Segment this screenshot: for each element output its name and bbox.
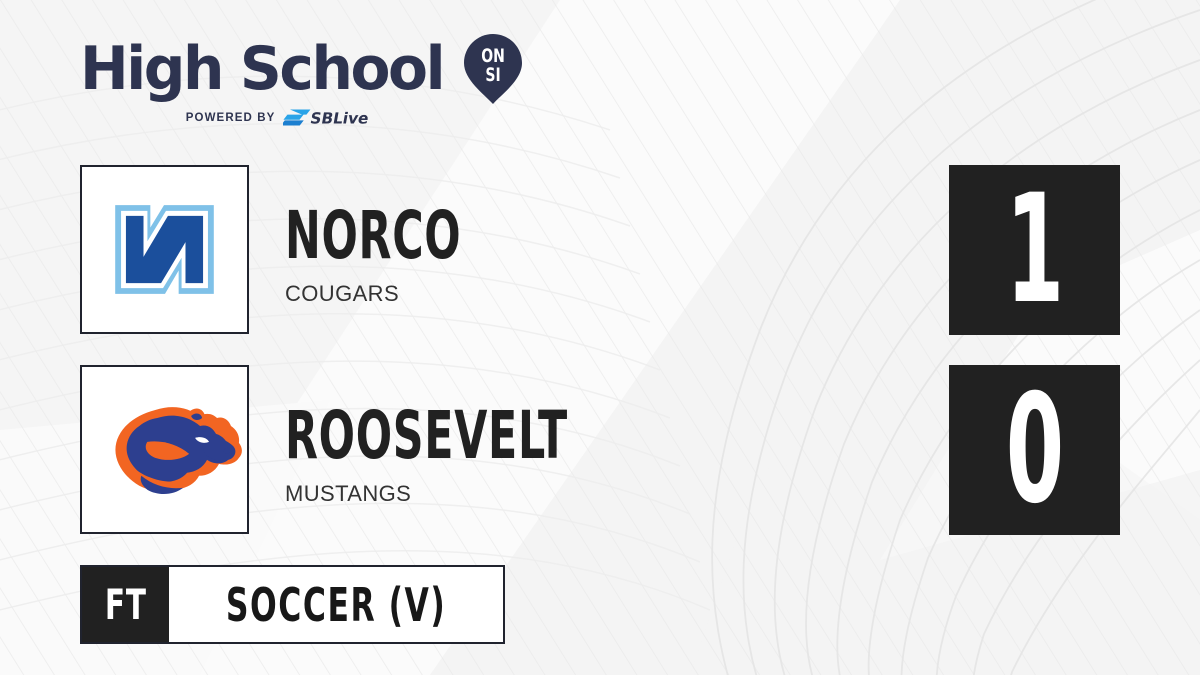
game-status-bar: FT SOCCER (V) — [80, 565, 505, 644]
norco-block-n-logo — [82, 167, 247, 332]
brand-title-row: High School ON SI — [80, 36, 510, 102]
powered-by-label: POWERED BY — [186, 112, 276, 124]
sblive-chevron-icon — [283, 109, 310, 125]
team-text-block: NORCO COUGARS — [285, 165, 985, 305]
team-score: 1 — [1005, 175, 1063, 325]
team-name: NORCO — [285, 203, 789, 269]
team-logo-card — [80, 165, 249, 334]
scoreboard-stage: High School ON SI POWERED BY SBLive — [0, 0, 1200, 675]
pin-label-si: SI — [486, 65, 501, 87]
status-code-label: FT — [105, 584, 147, 626]
roosevelt-mustang-head-logo — [82, 367, 247, 532]
team-score-box: 0 — [949, 365, 1120, 535]
team-text-block: ROOSEVELT MUSTANGS — [285, 365, 985, 505]
team-mascot: COUGARS — [285, 283, 985, 305]
sport-label-block: SOCCER (V) — [169, 567, 503, 642]
powered-by-row: POWERED BY SBLive — [80, 108, 510, 127]
page-title: High School — [80, 39, 443, 99]
sport-label: SOCCER (V) — [226, 582, 446, 628]
on-si-pin-icon: ON SI — [464, 34, 522, 104]
team-mascot: MUSTANGS — [285, 483, 985, 505]
sblive-logo: SBLive — [283, 108, 422, 127]
brand-header: High School ON SI POWERED BY SBLive — [80, 36, 510, 127]
team-name: ROOSEVELT — [285, 403, 789, 469]
team-score: 0 — [1005, 375, 1063, 525]
status-badge: FT — [82, 567, 169, 642]
team-logo-card — [80, 365, 249, 534]
team-score-box: 1 — [949, 165, 1120, 335]
sblive-wordmark: SBLive — [309, 109, 370, 127]
